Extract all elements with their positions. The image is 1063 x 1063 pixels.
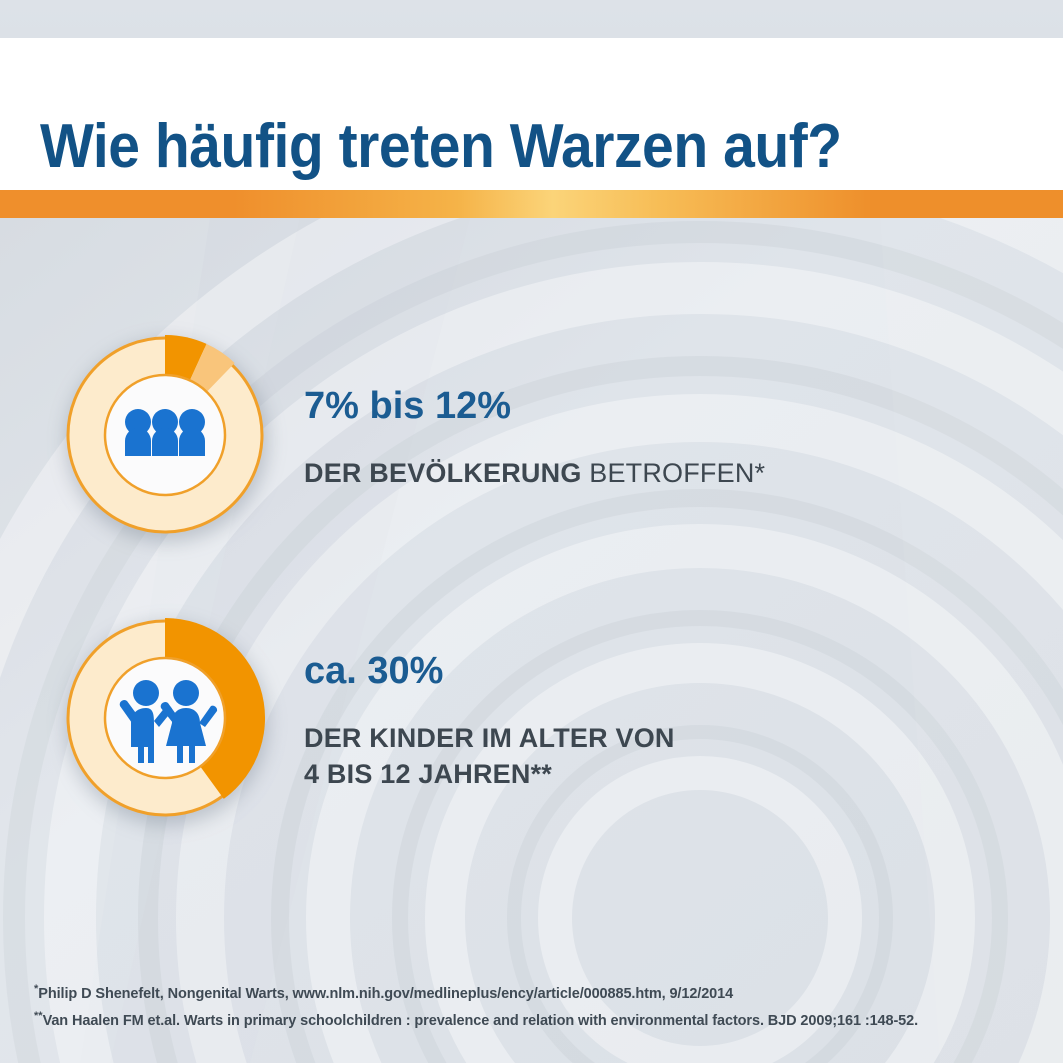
infographic-canvas: Wie häufig treten Warzen auf? xyxy=(0,0,1063,1063)
stat-row-children: ca. 30% DER KINDER IM ALTER VON 4 BIS 12… xyxy=(58,613,675,833)
page-title: Wie häufig treten Warzen auf? xyxy=(40,116,842,178)
stat-desc-light: BETROFFEN* xyxy=(589,458,765,488)
donut-svg-population xyxy=(58,330,278,550)
stat-row-population: 7% bis 12% DER BEVÖLKERUNG BETROFFEN* xyxy=(58,330,765,550)
stat-desc-line2: 4 BIS 12 JAHREN** xyxy=(304,757,675,793)
orange-accent-bar xyxy=(0,190,1063,218)
footnote-2: **Van Haalen FM et.al. Warts in primary … xyxy=(34,1007,1044,1034)
stat-desc-population: DER BEVÖLKERUNG BETROFFEN* xyxy=(304,456,765,492)
footnote-2-text: Van Haalen FM et.al. Warts in primary sc… xyxy=(43,1013,918,1029)
stat-desc-line1: DER KINDER IM ALTER VON xyxy=(304,721,675,757)
footnote-2-marker: ** xyxy=(34,1010,43,1022)
stat-desc-bold: DER BEVÖLKERUNG xyxy=(304,458,589,488)
three-people-icon xyxy=(125,409,205,456)
stat-value-population: 7% bis 12% xyxy=(304,385,765,428)
top-strip xyxy=(0,0,1063,38)
footnote-1-text: Philip D Shenefelt, Nongenital Warts, ww… xyxy=(38,986,733,1002)
footnotes: *Philip D Shenefelt, Nongenital Warts, w… xyxy=(34,980,1044,1034)
donut-chart-children xyxy=(58,613,278,833)
header-band: Wie häufig treten Warzen auf? xyxy=(0,38,1063,190)
stat-text-population: 7% bis 12% DER BEVÖLKERUNG BETROFFEN* xyxy=(304,385,765,496)
stat-text-children: ca. 30% DER KINDER IM ALTER VON 4 BIS 12… xyxy=(304,650,675,796)
donut-svg-children xyxy=(58,613,278,833)
donut-chart-population xyxy=(58,330,278,550)
stat-value-children: ca. 30% xyxy=(304,650,675,693)
footnote-1: *Philip D Shenefelt, Nongenital Warts, w… xyxy=(34,980,1044,1007)
stat-desc-children: DER KINDER IM ALTER VON 4 BIS 12 JAHREN*… xyxy=(304,721,675,792)
